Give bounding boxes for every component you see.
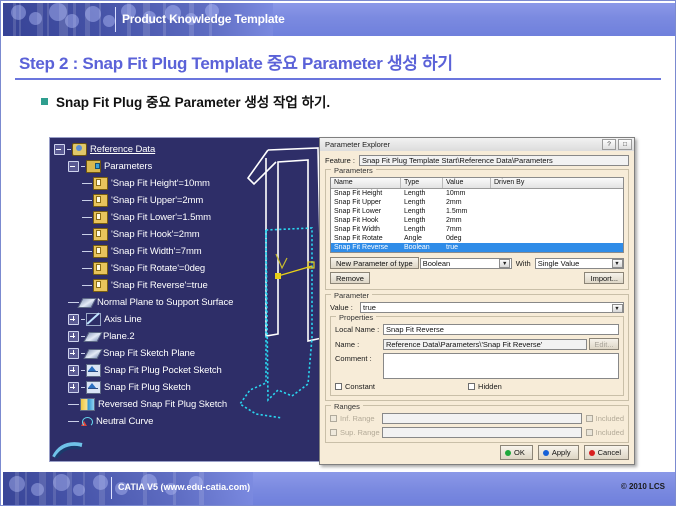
- ok-dot-icon: [505, 450, 511, 456]
- hidden-label: Hidden: [478, 382, 502, 391]
- cell-type: Angle: [401, 234, 443, 243]
- plane-icon: [77, 298, 96, 308]
- parameter-icon: [93, 194, 108, 207]
- footer-copyright: © 2010 LCS: [621, 482, 665, 491]
- cancel-dot-icon: [589, 450, 595, 456]
- comment-row: Comment :: [335, 353, 619, 379]
- dialog-titlebar[interactable]: Parameter Explorer ? □: [320, 138, 634, 152]
- column-header-type: Type: [401, 178, 443, 188]
- chevron-down-icon[interactable]: ▼: [499, 259, 510, 268]
- tree-item-snap-fit-height[interactable]: 'Snap Fit Height'=10mm: [54, 175, 233, 192]
- sup-included-label: Included: [596, 428, 624, 437]
- cell-value: 0deg: [443, 234, 491, 243]
- parameter-icon: [93, 245, 108, 258]
- tree-item-label: 'Snap Fit Hook'=2mm: [111, 229, 200, 240]
- properties-group: Properties Local Name : Snap Fit Reverse…: [330, 316, 624, 396]
- tree-item-label: Axis Line: [104, 314, 142, 325]
- slide-root: Product Knowledge Template Step 2 : Snap…: [0, 0, 676, 506]
- tree-item-label: Reference Data: [90, 144, 155, 155]
- cell-driven-by: [491, 225, 591, 234]
- properties-group-label: Properties: [336, 313, 376, 322]
- tree-item-label: Plane.2: [103, 331, 135, 342]
- help-icon[interactable]: ?: [602, 139, 616, 150]
- cell-driven-by: [491, 234, 591, 243]
- page-title: Step 2 : Snap Fit Plug Template 중요 Param…: [19, 49, 453, 74]
- cell-driven-by: [491, 216, 591, 225]
- cell-value: 7mm: [443, 225, 491, 234]
- name-input[interactable]: Reference Data\Parameters\'Snap Fit Reve…: [383, 339, 587, 350]
- cell-type: Length: [401, 207, 443, 216]
- tree-item-reversed-plug-sketch[interactable]: Reversed Snap Fit Plug Sketch: [54, 396, 233, 413]
- constant-label: Constant: [345, 382, 375, 391]
- apply-dot-icon: [543, 450, 549, 456]
- sup-range-label: Sup. Range: [340, 428, 382, 437]
- footer-label: CATIA V5 (www.edu-catia.com): [118, 482, 250, 492]
- cancel-button[interactable]: Cancel: [584, 445, 629, 460]
- value-field-text: true: [363, 303, 376, 312]
- tree-item-snap-fit-reverse[interactable]: 'Snap Fit Reverse'=true: [54, 277, 233, 294]
- parameters-folder-icon: [86, 160, 101, 173]
- comment-textarea[interactable]: [383, 353, 619, 379]
- inf-range-input[interactable]: [382, 413, 582, 424]
- column-header-driven-by: Driven By: [491, 178, 591, 188]
- tree-item-label: Snap Fit Plug Pocket Sketch: [104, 365, 222, 376]
- tree-item-label: 'Snap Fit Width'=7mm: [111, 246, 202, 257]
- tree-item-normal-plane[interactable]: Normal Plane to Support Surface: [54, 294, 233, 311]
- cell-driven-by: [491, 207, 591, 216]
- cell-name: Snap Fit Reverse: [331, 243, 401, 252]
- tree-item-label: 'Snap Fit Upper'=2mm: [111, 195, 203, 206]
- catia-viewport[interactable]: Reference Data Parameters 'Snap Fit Heig…: [49, 137, 329, 462]
- dialog-action-bar: OK Apply Cancel: [500, 445, 629, 460]
- banner-title: Product Knowledge Template: [122, 12, 285, 26]
- tree-item-label: 'Snap Fit Rotate'=0deg: [111, 263, 205, 274]
- name-label: Name :: [335, 340, 383, 349]
- local-name-input[interactable]: Snap Fit Reverse: [383, 324, 619, 335]
- compass-icon[interactable]: [52, 439, 86, 459]
- expand-toggle-icon[interactable]: [68, 348, 79, 359]
- column-header-name: Name: [331, 178, 401, 188]
- tree-item-label: Parameters: [104, 161, 152, 172]
- tree-item-label: 'Snap Fit Reverse'=true: [111, 280, 208, 291]
- bullet-label: Snap Fit Plug 중요 Parameter 생성 작업 하기.: [56, 91, 330, 111]
- bullet-square-icon: [41, 98, 48, 105]
- apply-label: Apply: [552, 447, 571, 458]
- cell-driven-by: [491, 189, 591, 198]
- name-row: Name : Reference Data\Parameters\'Snap F…: [335, 338, 619, 350]
- table-row[interactable]: Snap Fit Width Length 7mm: [331, 225, 623, 234]
- table-header-row: Name Type Value Driven By: [331, 178, 623, 189]
- parameters-group: Parameters Name Type Value Driven By Sna…: [325, 169, 629, 290]
- local-name-label: Local Name :: [335, 325, 383, 334]
- surface-icon: [80, 398, 95, 411]
- cell-name: Snap Fit Height: [331, 189, 401, 198]
- new-parameter-type-value: Boolean: [423, 259, 451, 268]
- table-row[interactable]: Snap Fit Hook Length 2mm: [331, 216, 623, 225]
- parameter-explorer-dialog[interactable]: Parameter Explorer ? □ Feature : Snap Fi…: [319, 137, 635, 465]
- tree-item-neutral-curve[interactable]: Neutral Curve: [54, 413, 233, 430]
- parameter-icon: [93, 177, 108, 190]
- sup-included-checkbox[interactable]: [586, 429, 593, 436]
- inf-included-label: Included: [596, 414, 624, 423]
- flags-row: Constant Hidden: [335, 382, 619, 391]
- dialog-title: Parameter Explorer: [322, 140, 600, 149]
- cell-type: Length: [401, 216, 443, 225]
- cell-type: Boolean: [401, 243, 443, 252]
- value-row: Value : true ▼: [330, 302, 624, 313]
- parameters-table[interactable]: Name Type Value Driven By Snap Fit Heigh…: [330, 177, 624, 253]
- tree-item-snap-fit-upper[interactable]: 'Snap Fit Upper'=2mm: [54, 192, 233, 209]
- cell-value: 2mm: [443, 216, 491, 225]
- hidden-checkbox[interactable]: [468, 383, 475, 390]
- collapse-toggle-icon[interactable]: [68, 161, 79, 172]
- tree-item-reference-data[interactable]: Reference Data: [54, 141, 233, 158]
- footer-divider: [111, 477, 112, 499]
- specification-tree[interactable]: Reference Data Parameters 'Snap Fit Heig…: [54, 141, 233, 430]
- tree-item-snap-fit-hook[interactable]: 'Snap Fit Hook'=2mm: [54, 226, 233, 243]
- footer-banner: CATIA V5 (www.edu-catia.com) © 2010 LCS: [3, 472, 675, 505]
- tree-item-label: Snap Fit Sketch Plane: [103, 348, 195, 359]
- tree-item-axis-line[interactable]: Axis Line: [54, 311, 233, 328]
- collapse-toggle-icon[interactable]: [54, 144, 65, 155]
- expand-toggle-icon[interactable]: [68, 331, 79, 342]
- expand-toggle-icon[interactable]: [68, 365, 79, 376]
- inf-range-row: Inf. Range Included: [330, 413, 624, 424]
- cell-name: Snap Fit Hook: [331, 216, 401, 225]
- ok-button[interactable]: OK: [500, 445, 533, 460]
- tree-item-label: Normal Plane to Support Surface: [97, 297, 233, 308]
- cell-type: Length: [401, 189, 443, 198]
- parameter-icon: [93, 279, 108, 292]
- tree-item-snap-fit-rotate[interactable]: 'Snap Fit Rotate'=0deg: [54, 260, 233, 277]
- table-row-selected[interactable]: Snap Fit Reverse Boolean true: [331, 243, 623, 252]
- tree-item-label: 'Snap Fit Lower'=1.5mm: [111, 212, 211, 223]
- table-row[interactable]: Snap Fit Upper Length 2mm: [331, 198, 623, 207]
- cell-type: Length: [401, 198, 443, 207]
- feature-field: Snap Fit Plug Template Start\Reference D…: [359, 155, 629, 166]
- cell-name: Snap Fit Upper: [331, 198, 401, 207]
- new-parameter-of-type-button[interactable]: New Parameter of type: [330, 257, 419, 269]
- name-edit-button[interactable]: Edit...: [589, 338, 619, 350]
- cell-value: 2mm: [443, 198, 491, 207]
- value-label: Value :: [330, 303, 360, 312]
- sup-range-row: Sup. Range Included: [330, 427, 624, 438]
- dialog-body: Feature : Snap Fit Plug Template Start\R…: [320, 151, 634, 464]
- cell-value: 1.5mm: [443, 207, 491, 216]
- parameters-group-label: Parameters: [331, 166, 376, 175]
- column-header-value: Value: [443, 178, 491, 188]
- local-name-row: Local Name : Snap Fit Reverse: [335, 324, 619, 335]
- banner-divider: [115, 7, 116, 32]
- cell-driven-by: [491, 198, 591, 207]
- remove-import-row: Remove Import...: [330, 272, 624, 284]
- tree-item-pocket-sketch[interactable]: Snap Fit Plug Pocket Sketch: [54, 362, 233, 379]
- sketch-icon: [86, 381, 101, 394]
- ranges-group: Ranges Inf. Range Included Sup. Range In…: [325, 405, 629, 443]
- reference-data-icon: [72, 143, 87, 156]
- new-parameter-row: New Parameter of type Boolean ▼ With Sin…: [330, 257, 624, 269]
- viewport-canvas[interactable]: Reference Data Parameters 'Snap Fit Heig…: [50, 138, 328, 461]
- inf-included-checkbox[interactable]: [586, 415, 593, 422]
- import-button[interactable]: Import...: [584, 272, 624, 284]
- expand-toggle-icon[interactable]: [68, 314, 79, 325]
- tree-item-snap-fit-sketch-plane[interactable]: Snap Fit Sketch Plane: [54, 345, 233, 362]
- tree-item-label: Neutral Curve: [96, 416, 153, 427]
- cell-type: Length: [401, 225, 443, 234]
- title-underline: [15, 78, 661, 80]
- feature-label: Feature :: [325, 156, 359, 165]
- tree-item-snap-fit-width[interactable]: 'Snap Fit Width'=7mm: [54, 243, 233, 260]
- tree-item-snap-fit-lower[interactable]: 'Snap Fit Lower'=1.5mm: [54, 209, 233, 226]
- plane-icon: [83, 349, 102, 359]
- constant-checkbox[interactable]: [335, 383, 342, 390]
- table-row[interactable]: Snap Fit Height Length 10mm: [331, 189, 623, 198]
- tree-item-plug-sketch[interactable]: Snap Fit Plug Sketch: [54, 379, 233, 396]
- sup-range-checkbox[interactable]: [330, 429, 337, 436]
- tree-item-parameters[interactable]: Parameters: [54, 158, 233, 175]
- with-value-select[interactable]: Single Value ▼: [535, 258, 624, 269]
- tree-item-label: Reversed Snap Fit Plug Sketch: [98, 399, 227, 410]
- tree-item-label: Snap Fit Plug Sketch: [104, 382, 191, 393]
- bullet-item: Snap Fit Plug 중요 Parameter 생성 작업 하기.: [41, 91, 330, 111]
- parameter-group-label: Parameter: [331, 291, 372, 300]
- with-value: Single Value: [538, 259, 580, 268]
- cell-driven-by: [491, 243, 591, 252]
- expand-toggle-icon[interactable]: [68, 382, 79, 393]
- comment-label: Comment :: [335, 353, 383, 363]
- cell-name: Snap Fit Width: [331, 225, 401, 234]
- apply-button[interactable]: Apply: [538, 445, 579, 460]
- ranges-group-label: Ranges: [331, 402, 363, 411]
- header-banner: Product Knowledge Template: [3, 3, 675, 36]
- tree-item-label: 'Snap Fit Height'=10mm: [111, 178, 210, 189]
- inf-range-checkbox[interactable]: [330, 415, 337, 422]
- inf-range-label: Inf. Range: [340, 414, 382, 423]
- table-row[interactable]: Snap Fit Rotate Angle 0deg: [331, 234, 623, 243]
- cell-value: 10mm: [443, 189, 491, 198]
- curve-icon: [80, 416, 93, 427]
- table-row[interactable]: Snap Fit Lower Length 1.5mm: [331, 207, 623, 216]
- with-label: With: [516, 259, 531, 268]
- parameter-icon: [93, 228, 108, 241]
- sup-range-input[interactable]: [382, 427, 582, 438]
- cell-name: Snap Fit Lower: [331, 207, 401, 216]
- chevron-down-icon[interactable]: ▼: [612, 304, 623, 313]
- ok-label: OK: [514, 447, 525, 458]
- axis-line-icon: [86, 313, 101, 326]
- cell-value: true: [443, 243, 491, 252]
- parameter-icon: [93, 211, 108, 224]
- sketch-icon: [86, 364, 101, 377]
- feature-row: Feature : Snap Fit Plug Template Start\R…: [325, 155, 629, 166]
- parameter-icon: [93, 262, 108, 275]
- new-parameter-type-select[interactable]: Boolean ▼: [420, 258, 512, 269]
- cell-name: Snap Fit Rotate: [331, 234, 401, 243]
- plane-icon: [83, 332, 102, 342]
- cancel-label: Cancel: [598, 447, 621, 458]
- maximize-icon[interactable]: □: [618, 139, 632, 150]
- remove-button[interactable]: Remove: [330, 272, 370, 284]
- tree-item-plane-2[interactable]: Plane.2: [54, 328, 233, 345]
- value-select[interactable]: true ▼: [360, 302, 624, 313]
- parameter-group: Parameter Value : true ▼ Properties Loca…: [325, 294, 629, 401]
- chevron-down-icon[interactable]: ▼: [612, 259, 623, 268]
